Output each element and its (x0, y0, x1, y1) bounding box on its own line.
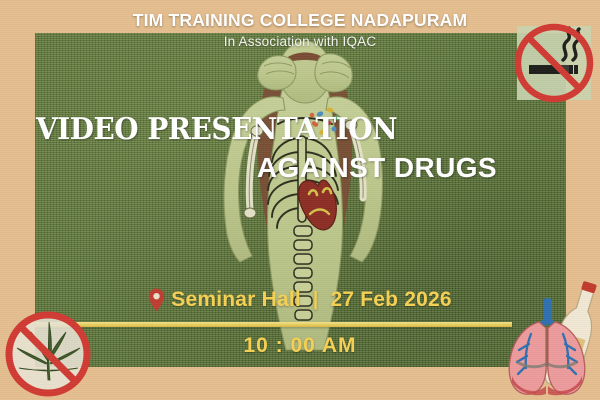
no-cannabis-icon (2, 308, 94, 400)
location-pin-icon (148, 288, 165, 312)
poster-canvas: TIM TRAINING COLLEGE NADAPURAM In Associ… (0, 0, 600, 400)
gold-divider (35, 322, 512, 327)
lungs-and-bottle-illustration (501, 276, 600, 400)
venue-date-separator: | (308, 289, 324, 311)
organization-name: TIM TRAINING COLLEGE NADAPURAM (0, 10, 600, 31)
poster-title-line-2: AGAINST DRUGS (0, 152, 497, 184)
poster-title-line-1: VIDEO PRESENTATION (36, 112, 397, 147)
no-smoking-icon (511, 20, 597, 106)
association-line: In Association with IQAC (0, 34, 600, 49)
venue-label: Seminar Hall (171, 288, 301, 312)
event-date: 27 Feb 2026 (330, 288, 451, 312)
